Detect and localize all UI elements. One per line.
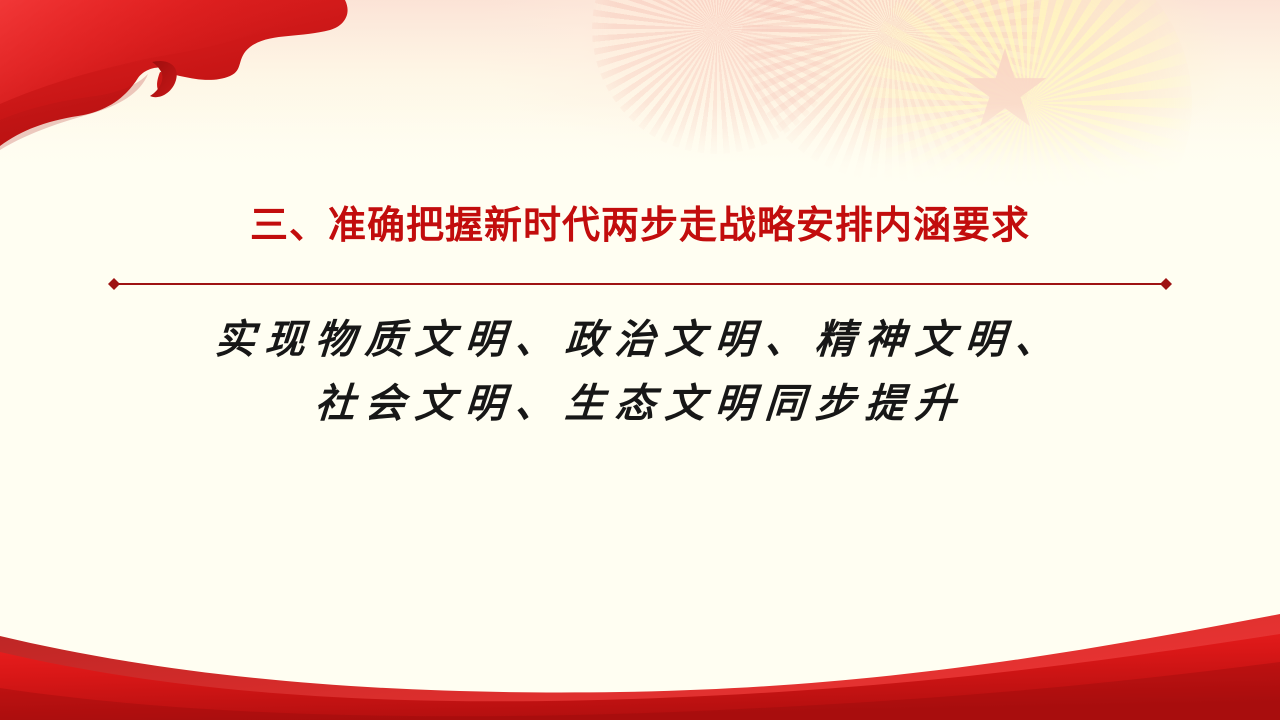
sunburst-icon [862,0,1192,190]
body-text: 实现物质文明、政治文明、精神文明、 社会文明、生态文明同步提升 [0,308,1280,436]
watermark-wash [0,0,1280,190]
watermark-fade [0,0,1280,190]
red-silk-flag [0,0,420,210]
five-pointed-star-icon [962,48,1048,134]
slide-canvas: 三、准确把握新时代两步走战略安排内涵要求 实现物质文明、政治文明、精神文明、 社… [0,0,1280,720]
gear-cog-icon [742,0,1042,182]
body-text-line: 实现物质文明、政治文明、精神文明、 [0,308,1280,372]
page-title: 三、准确把握新时代两步走战略安排内涵要求 [0,204,1280,250]
gear-cog-icon [592,0,842,154]
national-emblem-watermark [0,0,1280,190]
title-divider [108,277,1172,291]
divider-diamond-right-icon [1160,278,1172,290]
red-wave-ribbon [0,600,1280,720]
body-text-line: 社会文明、生态文明同步提升 [0,372,1280,436]
divider-rule [114,283,1166,285]
